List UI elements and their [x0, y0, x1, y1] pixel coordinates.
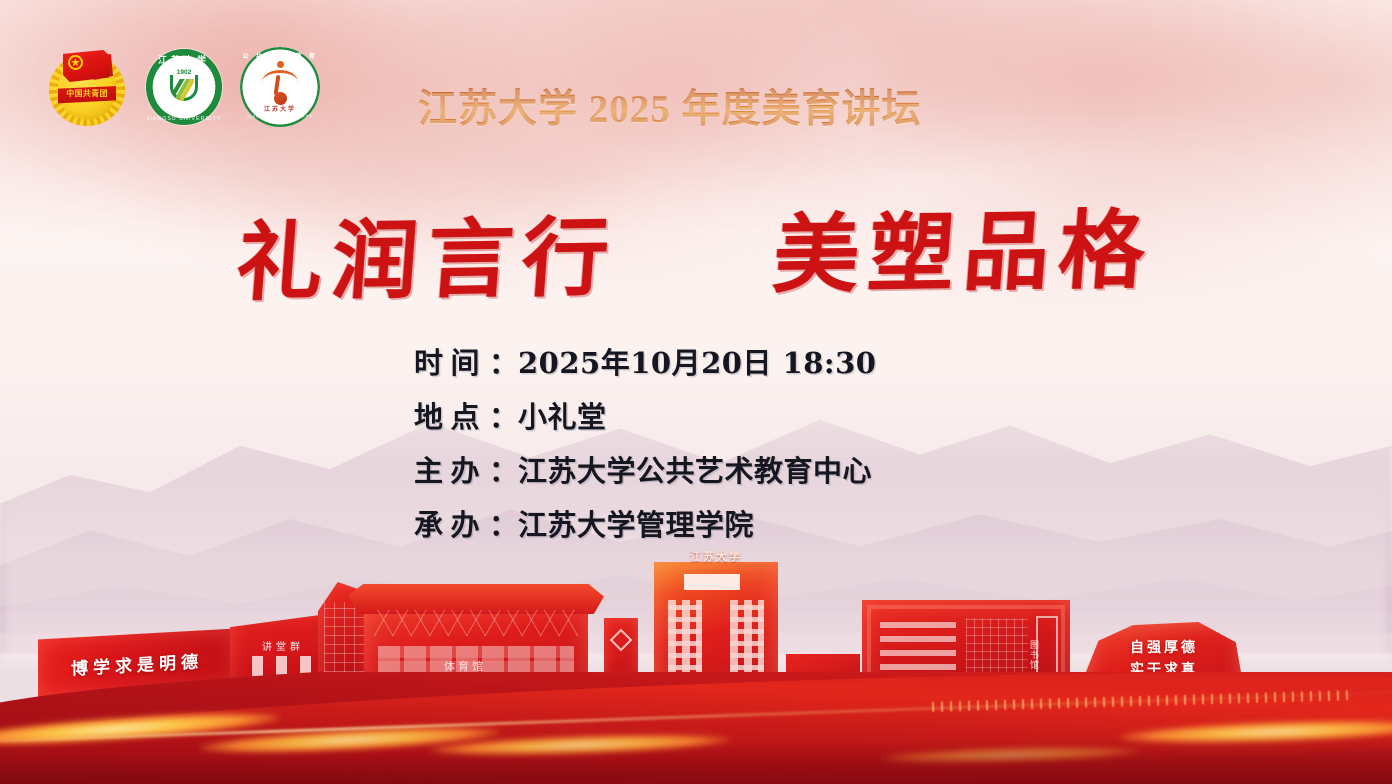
info-value-time: 2025年10月20日 18:30 — [518, 340, 876, 382]
info-label-time-colon: ： — [489, 340, 518, 382]
info-label-venue-char2: 点 — [450, 394, 479, 436]
main-tower-window-grid-right — [730, 600, 764, 682]
art-center-emblem-icon: 公 共 艺 术 教 育 中 心 江苏大学 JIANGSU UNIVERSITY — [240, 47, 320, 127]
info-label-venue-char1: 地 — [414, 394, 443, 436]
art-center-bottom-en-text: JIANGSU UNIVERSITY — [240, 114, 320, 119]
poster-header: 中国共青团 江苏大学 1902 JIANGSU UNIVERSITY — [0, 0, 1392, 160]
league-emblem-icon: 中国共青团 — [46, 46, 128, 128]
lecture-hall-label: 讲堂群 — [262, 638, 304, 653]
info-label-time-char1: 时 — [414, 340, 443, 382]
info-row-organizer: 主 办 ： 江苏大学公共艺术教育中心 — [414, 448, 876, 490]
logo-group: 中国共青团 江苏大学 1902 JIANGSU UNIVERSITY — [46, 46, 320, 128]
public-art-education-center-logo: 公 共 艺 术 教 育 中 心 江苏大学 JIANGSU UNIVERSITY — [240, 47, 320, 127]
info-label-organizer-colon: ： — [489, 448, 518, 490]
red-silk-ribbon — [0, 672, 1392, 784]
pavilion-truss-shape — [374, 610, 578, 636]
jsu-emblem-icon: 江苏大学 1902 JIANGSU UNIVERSITY — [146, 49, 222, 125]
info-label-organizer: 主 办 ： — [414, 448, 518, 490]
jsu-leaf-shape — [172, 79, 194, 101]
info-label-organizer-char1: 主 — [414, 448, 443, 490]
main-title-phrase-left: 礼润言行 — [233, 207, 621, 313]
jsu-chinese-name: 江苏大学 — [146, 53, 222, 66]
communist-youth-league-logo: 中国共青团 — [46, 46, 128, 128]
info-row-time: 时 间 ： 2025年10月20日 18:30 — [414, 340, 876, 382]
forum-header-title: 江苏大学 2025 年度美育讲坛 — [418, 78, 922, 134]
art-center-bottom-cn-text: 江苏大学 — [240, 104, 320, 113]
jsu-english-name: JIANGSU UNIVERSITY — [146, 116, 222, 122]
jiangsu-university-logo: 江苏大学 1902 JIANGSU UNIVERSITY — [146, 49, 222, 125]
art-center-dancer-icon — [262, 61, 298, 107]
league-banner-label: 中国共青团 — [66, 88, 108, 99]
info-value-organizer: 江苏大学公共艺术教育中心 — [518, 448, 872, 490]
main-title-spacer — [654, 285, 732, 286]
info-label-organizer-char2: 办 — [450, 448, 479, 490]
info-row-venue: 地 点 ： 小礼堂 — [414, 394, 876, 436]
page-title: 礼润言行 美塑品格 — [0, 176, 1392, 320]
poster-canvas: 中国共青团 江苏大学 1902 JIANGSU UNIVERSITY — [0, 0, 1392, 784]
info-label-time-char2: 间 — [450, 340, 479, 382]
info-label-venue-colon: ： — [489, 394, 518, 436]
motto-stone-line-1: 自强厚德 — [1086, 638, 1242, 660]
main-tower-window-grid-left — [668, 600, 702, 682]
info-label-time: 时 间 ： — [414, 340, 518, 382]
info-label-venue: 地 点 ： — [414, 394, 518, 436]
main-title-phrase-right: 美塑品格 — [770, 200, 1158, 306]
main-tower-sign-plate — [684, 574, 740, 590]
main-tower-label: 江苏大学 — [654, 548, 778, 564]
info-value-venue: 小礼堂 — [518, 394, 607, 436]
league-star-icon — [68, 55, 83, 70]
